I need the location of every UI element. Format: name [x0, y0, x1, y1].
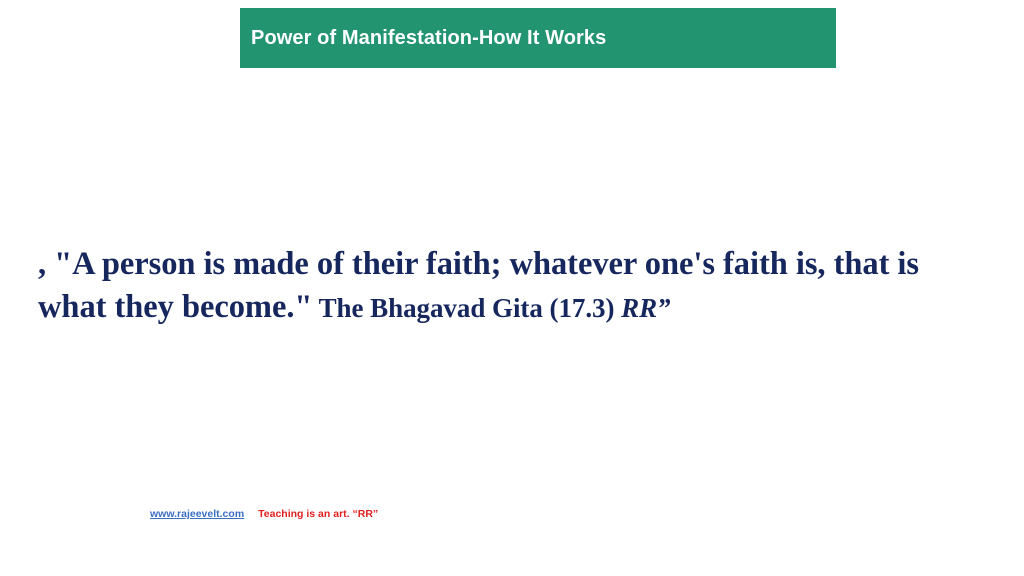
- quote-initials: RR”: [621, 293, 670, 323]
- footer-tagline: Teaching is an art. “RR”: [258, 508, 378, 520]
- quote-block: , "A person is made of their faith; what…: [38, 243, 988, 330]
- page-title: Power of Manifestation-How It Works: [240, 27, 606, 49]
- footer: www.rajeevelt.com Teaching is an art. “R…: [150, 508, 378, 520]
- quote-source: The Bhagavad Gita (17.3): [312, 293, 621, 323]
- slide-canvas: Power of Manifestation-How It Works , "A…: [0, 0, 1024, 576]
- title-banner: Power of Manifestation-How It Works: [240, 8, 836, 68]
- website-link[interactable]: www.rajeevelt.com: [150, 508, 244, 520]
